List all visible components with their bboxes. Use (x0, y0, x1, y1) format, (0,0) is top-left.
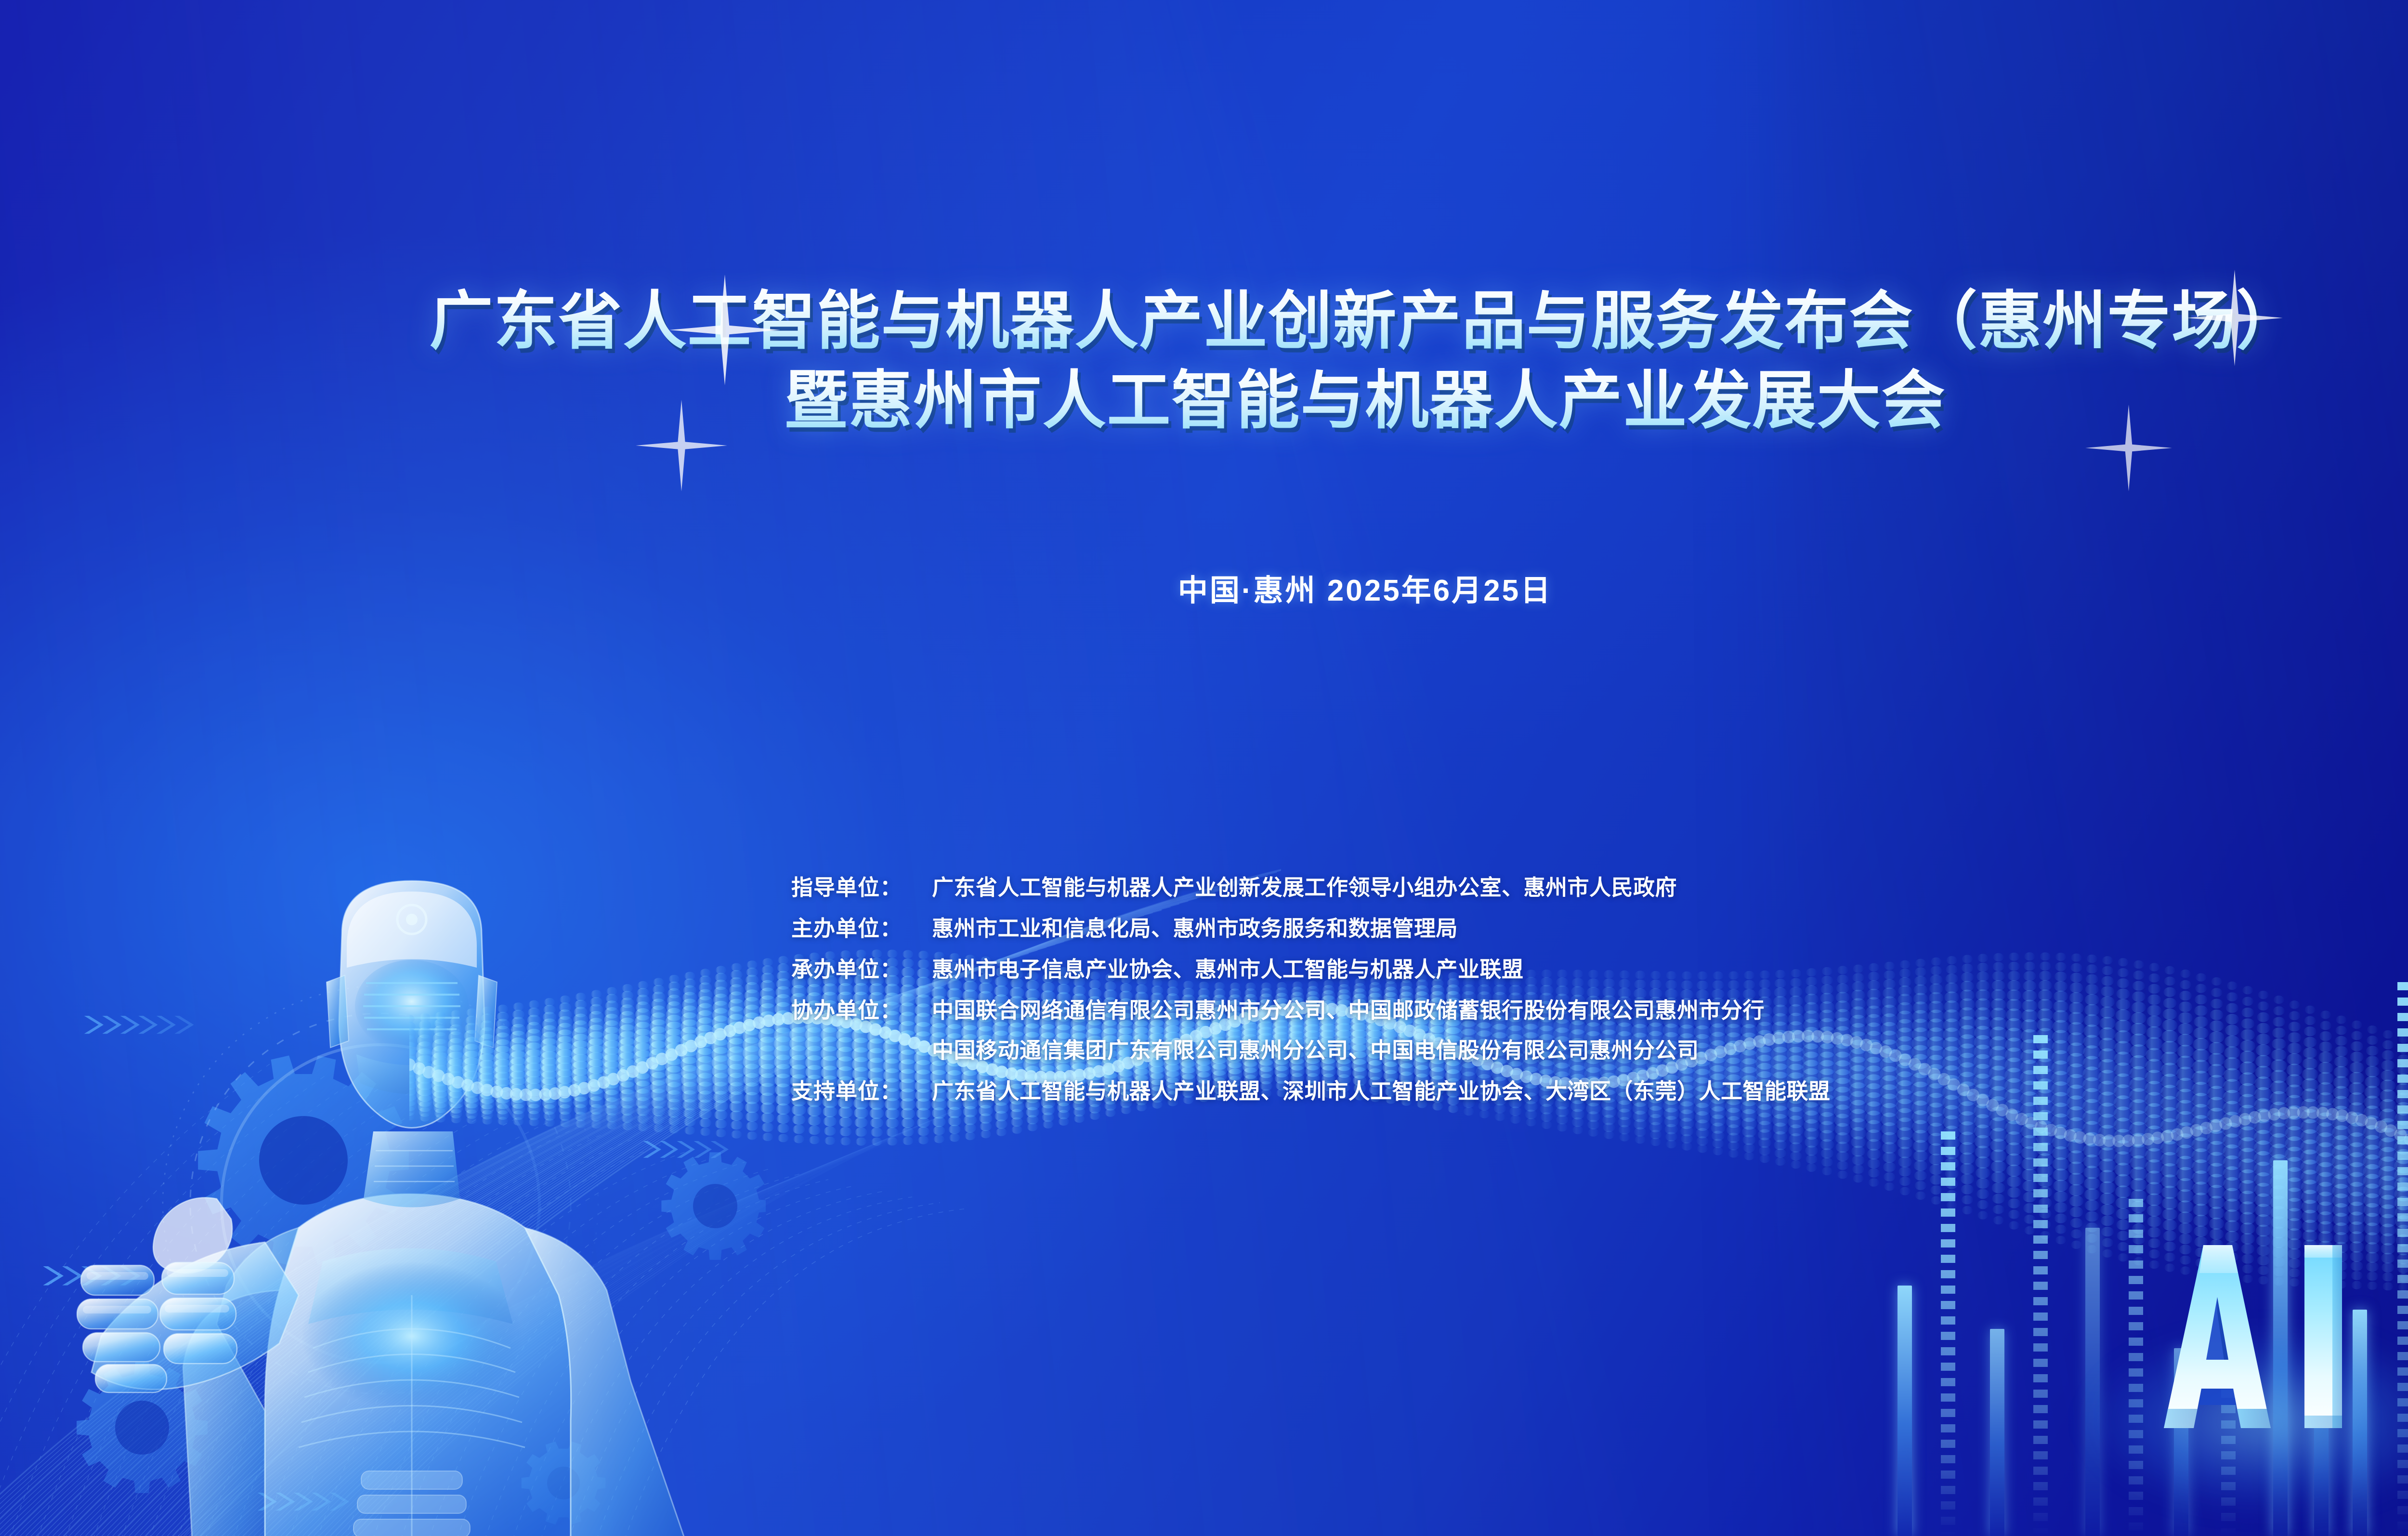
organizer-value: 惠州市工业和信息化局、惠州市政务服务和数据管理局 (932, 911, 1458, 942)
organizer-value: 广东省人工智能与机器人产业联盟、深圳市人工智能产业协会、大湾区（东莞）人工智能联… (932, 1074, 1831, 1105)
gear-icon (77, 1055, 766, 1524)
organizer-row: 中国移动通信集团广东有限公司惠州分公司、中国电信股份有限公司惠州分公司 (791, 1033, 1831, 1064)
organizer-row: 承办单位：惠州市电子信息产业协会、惠州市人工智能与机器人产业联盟 (791, 952, 1831, 983)
organizer-value: 广东省人工智能与机器人产业创新发展工作领导小组办公室、惠州市人民政府 (932, 870, 1677, 901)
gear-decoration-group (43, 934, 766, 1536)
organizers-block: 指导单位：广东省人工智能与机器人产业创新发展工作领导小组办公室、惠州市人民政府主… (791, 870, 1831, 1115)
light-sheen-left (0, 0, 1769, 1536)
organizer-label: 支持单位： (791, 1074, 932, 1105)
chevron-arrows-icon (43, 1016, 729, 1510)
organizer-label: 主办单位： (791, 911, 932, 942)
arc-line-mesh (0, 727, 1281, 1536)
ai-logo (2155, 1235, 2377, 1447)
equalizer-bars (1878, 862, 2408, 1536)
event-title-block: 广东省人工智能与机器人产业创新产品与服务发布会（惠州专场） 暨惠州市人工智能与机… (0, 284, 2408, 437)
organizer-row: 协办单位：中国联合网络通信有限公司惠州市分公司、中国邮政储蓄银行股份有限公司惠州… (791, 993, 1831, 1024)
organizer-row: 主办单位：惠州市工业和信息化局、惠州市政务服务和数据管理局 (791, 911, 1831, 942)
ai-logo-glow (2085, 1329, 2408, 1512)
organizer-row: 指导单位：广东省人工智能与机器人产业创新发展工作领导小组办公室、惠州市人民政府 (791, 870, 1831, 901)
organizer-value: 中国移动通信集团广东有限公司惠州分公司、中国电信股份有限公司惠州分公司 (932, 1033, 1699, 1064)
organizer-label: 协办单位： (791, 993, 932, 1024)
title-line-1: 广东省人工智能与机器人产业创新产品与服务发布会（惠州专场） (0, 284, 2408, 358)
organizer-label: 指导单位： (791, 870, 932, 901)
organizer-value: 中国联合网络通信有限公司惠州市分公司、中国邮政储蓄银行股份有限公司惠州市分行 (932, 993, 1765, 1024)
organizer-row: 支持单位：广东省人工智能与机器人产业联盟、深圳市人工智能产业协会、大湾区（东莞）… (791, 1074, 1831, 1105)
event-date-location: 中国·惠州 2025年6月25日 (0, 566, 2408, 609)
organizer-label: 承办单位： (791, 952, 932, 983)
organizer-value: 惠州市电子信息产业协会、惠州市人工智能与机器人产业联盟 (932, 952, 1524, 983)
light-sheen-right (1775, 0, 2408, 1536)
title-line-2: 暨惠州市人工智能与机器人产业发展大会 (0, 364, 2408, 437)
poster-backdrop: 广东省人工智能与机器人产业创新产品与服务发布会（惠州专场） 暨惠州市人工智能与机… (0, 0, 2408, 1536)
robot-illustration (72, 862, 746, 1536)
